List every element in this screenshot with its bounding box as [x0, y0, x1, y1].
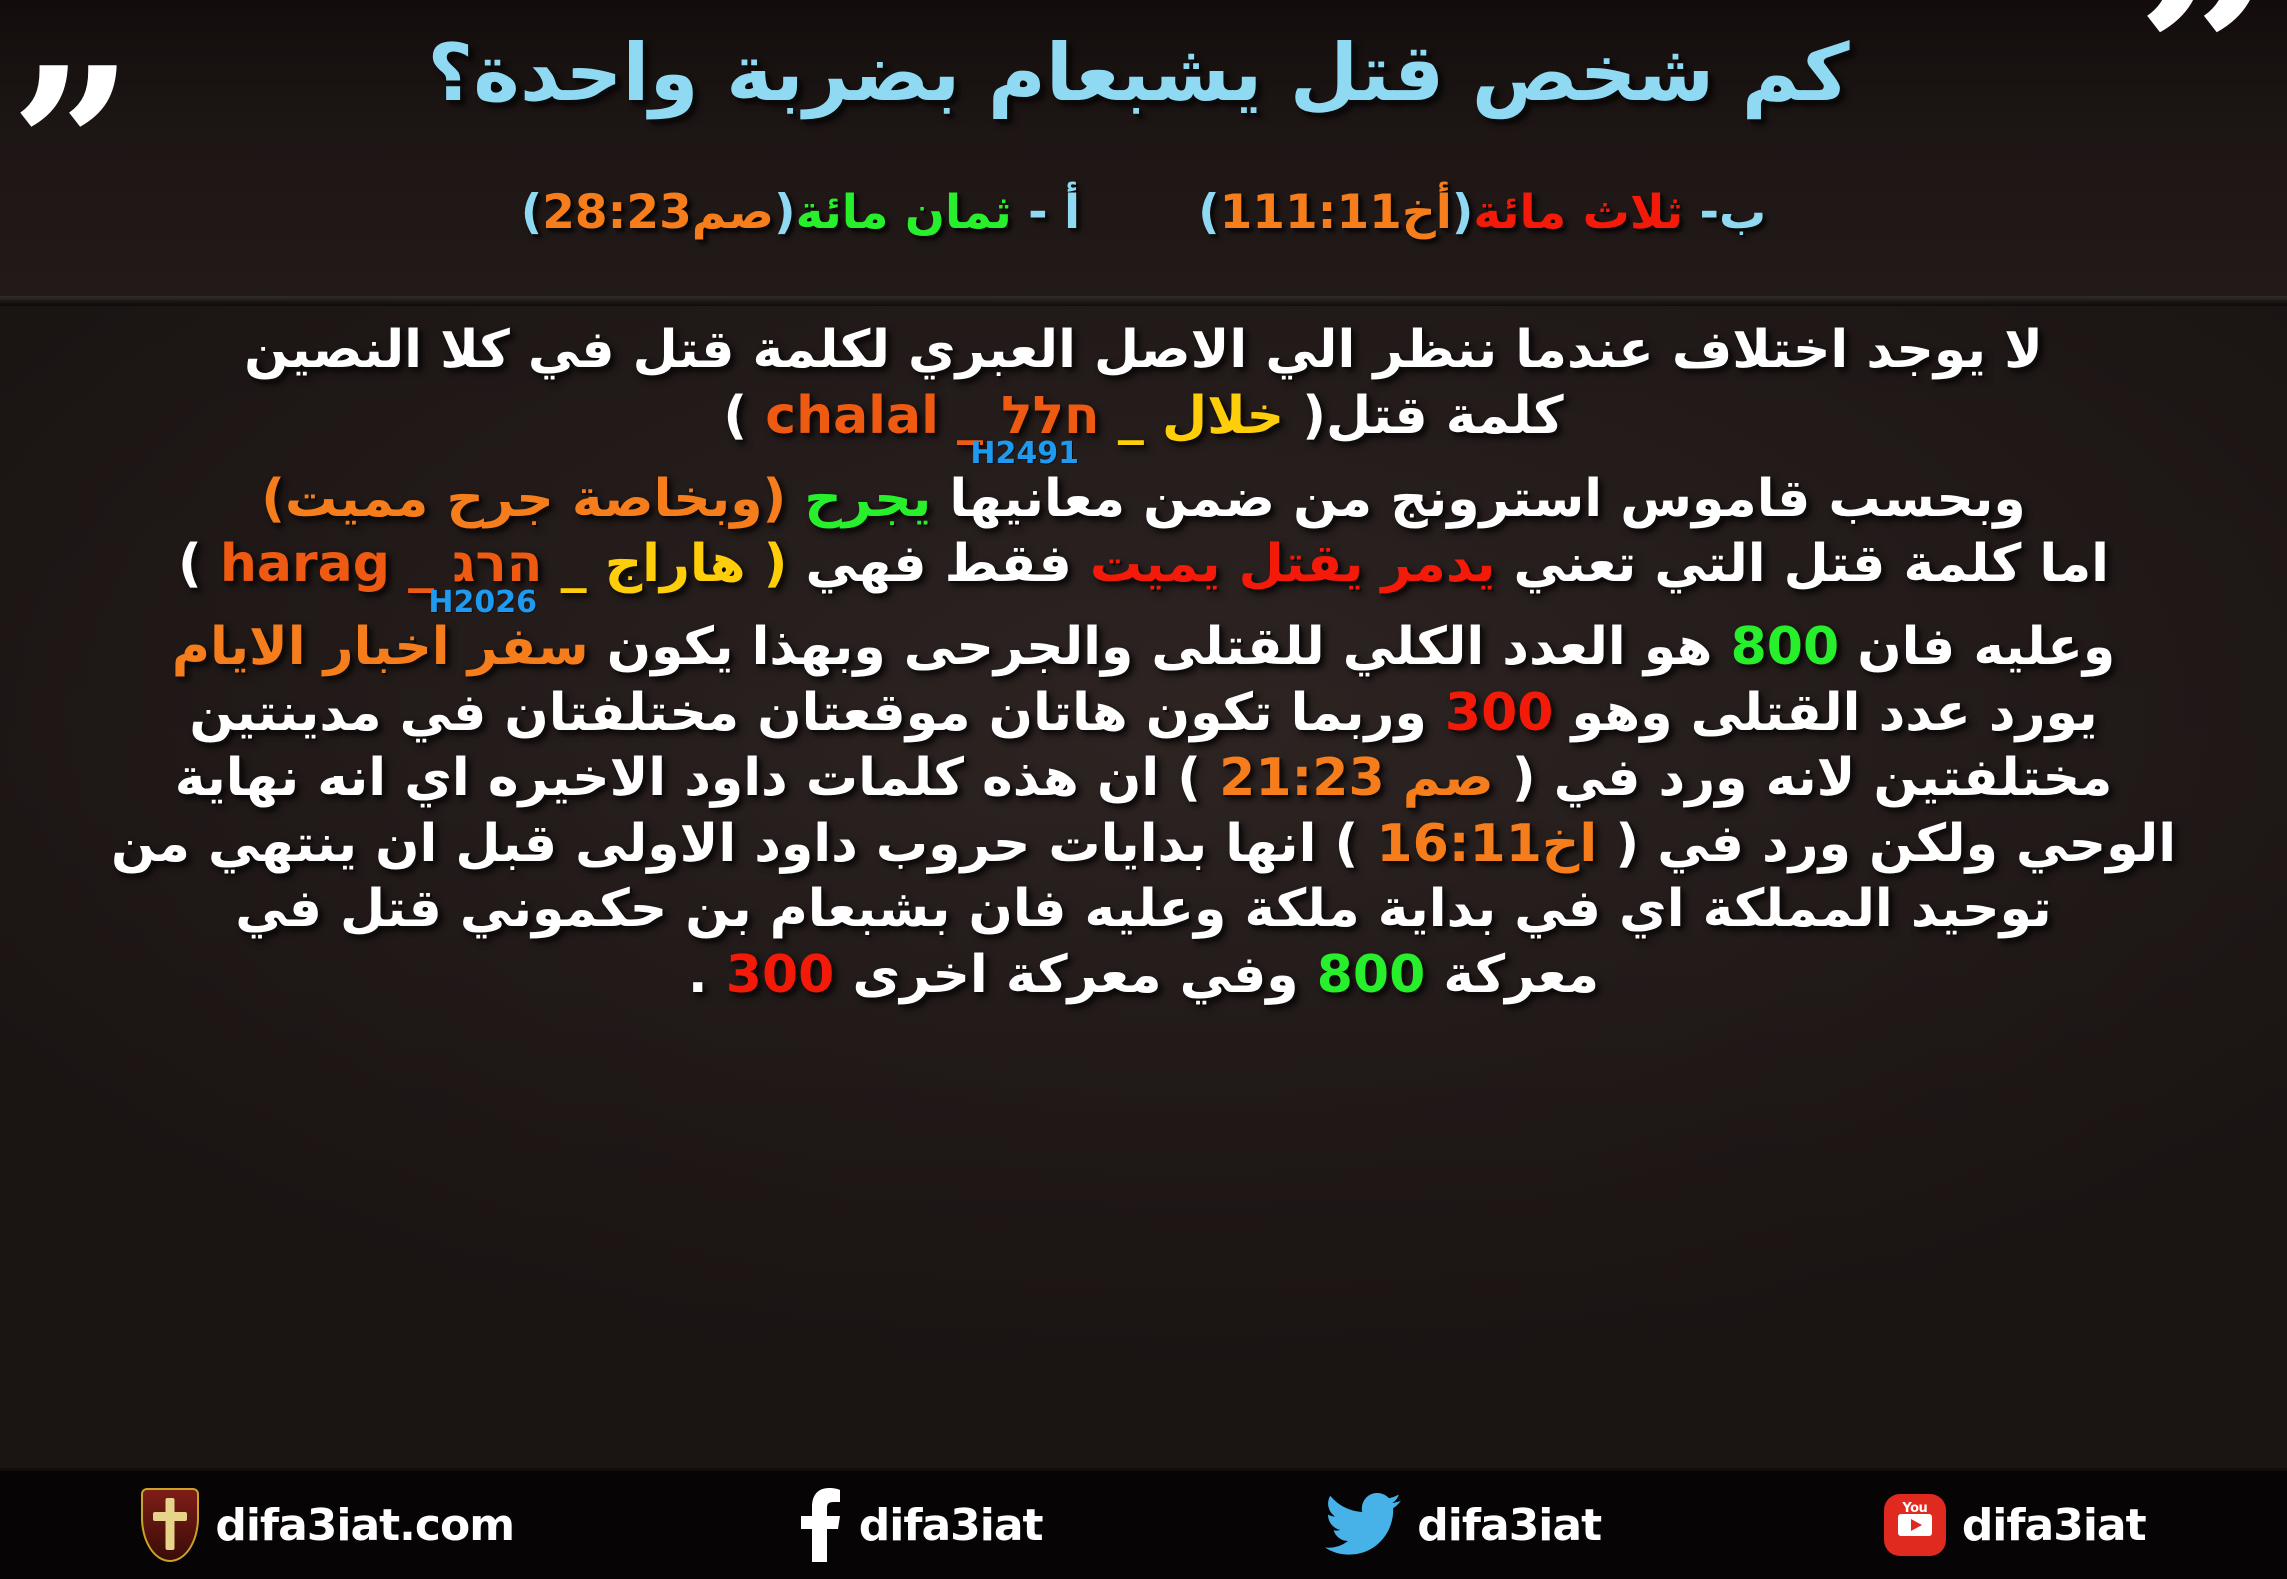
answer-options-row: ب- ثلاث مائة(1أخ11:11) أ - ثمان مائة(2صم…: [0, 185, 2287, 240]
line8-lead: الوحي ولكن ورد في (: [1615, 814, 2176, 874]
line7-tail: ) ان هذه كلمات داود الاخيره اي انه نهاية: [175, 748, 1201, 808]
header-banner: ” ” كم شخص قتل يشبعام بضربة واحدة؟ ب- ثل…: [0, 0, 2287, 300]
line8-tail: ) انها بدايات حروب داود الاولى قبل ان ين…: [111, 814, 1358, 874]
article-body: لا يوجد اختلاف عندما ننظر الي الاصل العب…: [20, 318, 2267, 1008]
harag-arabic-translit: هاراج: [605, 534, 746, 594]
youtube-icon: You: [1884, 1494, 1946, 1556]
line8-reference: 1اخ6:11: [1376, 812, 1597, 878]
shield-cross-icon: [141, 1488, 199, 1562]
line6-tail: وربما تكون هاتان موقعتان مختلفتان في مدي…: [189, 683, 1426, 743]
body-line-4: اما كلمة قتل التي تعني يدمر يقتل يميت فق…: [20, 532, 2267, 615]
line5-book: سفر اخبار الايام: [172, 617, 589, 677]
line6-count-300: 300: [1445, 681, 1554, 747]
footer-twitter-link[interactable]: difa3iat: [1325, 1493, 1601, 1557]
harag-latin: harag: [220, 532, 390, 598]
footer-twitter-label: difa3iat: [1417, 1500, 1601, 1551]
answer-option-a: أ - ثمان مائة(2صم8:23): [521, 185, 1080, 240]
answer-a-reference: 2صم8:23: [542, 185, 774, 240]
harag-sep-1: _: [561, 534, 587, 594]
answer-b-paren-open: (: [1452, 185, 1473, 240]
body-line-10: معركة 800 وفي معركة اخرى 300 .: [20, 943, 2267, 1009]
line3-note: (وبخاصة جرح مميت): [261, 469, 786, 529]
answer-b-text: ثلاث مائة: [1473, 185, 1683, 240]
footer-social-bar: difa3iat.com difa3iat difa3iat You: [0, 1468, 2287, 1579]
line10-count-300: 300: [726, 943, 835, 1009]
body-line-8: الوحي ولكن ورد في ( 1اخ6:11 ) انها بدايا…: [20, 812, 2267, 878]
footer-facebook-label: difa3iat: [859, 1500, 1043, 1551]
answer-a-paren-close: ): [521, 185, 542, 240]
line6-lead: يورد عدد القتلى وهو: [1572, 683, 2098, 743]
line4-mid: فقط فهي: [806, 534, 1072, 594]
twitter-icon: [1325, 1493, 1401, 1557]
body-line-5: وعليه فان 800 هو العدد الكلي للقتلى والج…: [20, 615, 2267, 681]
facebook-icon: [797, 1488, 843, 1562]
footer-youtube-link[interactable]: You difa3iat: [1884, 1494, 2146, 1556]
harag-term-group: هاراج _ הרג _ harag H2026: [220, 532, 746, 615]
question-title: كم شخص قتل يشبعام بضربة واحدة؟: [200, 28, 2077, 119]
answer-b-paren-close: ): [1198, 185, 1219, 240]
chalal-sep-1: _: [1118, 386, 1144, 446]
body-line-7: مختلفتين لانه ورد في ( 2صم 1:23 ) ان هذه…: [20, 746, 2267, 812]
footer-youtube-label: difa3iat: [1962, 1500, 2146, 1551]
line3-lead: وبحسب قاموس استرونج من ضمن معانيها: [949, 469, 2025, 529]
line5-lead: وعليه فان: [1857, 617, 2115, 677]
line4-open-paren: (: [764, 534, 788, 594]
chalal-latin: chalal: [765, 384, 939, 450]
body-line-2: كلمة قتل( خلال _ חלל _ chalal H2491 ): [20, 384, 2267, 467]
line10-lead: معركة: [1443, 945, 1599, 1005]
line4-meanings: يدمر يقتل يميت: [1090, 534, 1496, 594]
line10-period: .: [688, 945, 708, 1005]
answer-b-reference: 1أخ11:11: [1220, 185, 1452, 240]
body-line-3: وبحسب قاموس استرونج من ضمن معانيها يجرح …: [20, 467, 2267, 533]
line7-lead: مختلفتين لانه ورد في (: [1512, 748, 2112, 808]
quote-mark-top-right-icon: ”: [2135, 0, 2269, 133]
body-line-9: توحيد المملكة اي في بداية ملكة وعليه فان…: [20, 877, 2267, 943]
answer-option-b: ب- ثلاث مائة(1أخ11:11): [1198, 185, 1766, 240]
line7-reference: 2صم 1:23: [1219, 746, 1494, 812]
answer-a-text: ثمان مائة: [796, 185, 1012, 240]
line5-count-800: 800: [1731, 615, 1840, 681]
chalal-term-group: خلال _ חלל _ chalal H2491: [765, 384, 1284, 467]
answer-b-letter: ب-: [1683, 185, 1766, 240]
answer-a-paren-open: (: [774, 185, 795, 240]
youtube-icon-play: [1898, 1514, 1932, 1536]
footer-website-link[interactable]: difa3iat.com: [141, 1488, 514, 1562]
slide-canvas: ” ” كم شخص قتل يشبعام بضربة واحدة؟ ب- ثل…: [0, 0, 2287, 1579]
line2-close-paren: ): [723, 386, 747, 446]
line10-mid: وفي معركة اخرى: [852, 945, 1298, 1005]
line5-mid: هو العدد الكلي للقتلى والجرحى وبهذا يكون: [607, 617, 1713, 677]
line10-count-800: 800: [1317, 943, 1426, 1009]
answer-a-letter: أ -: [1012, 185, 1080, 240]
line4-lead: اما كلمة قتل التي تعني: [1514, 534, 2109, 594]
line4-close-paren: ): [178, 534, 202, 594]
line3-yajrah: يجرح: [804, 469, 931, 529]
header-divider: [0, 296, 2287, 306]
footer-facebook-link[interactable]: difa3iat: [797, 1488, 1043, 1562]
body-line-1: لا يوجد اختلاف عندما ننظر الي الاصل العب…: [20, 318, 2267, 384]
line2-lead: كلمة قتل(: [1302, 386, 1563, 446]
body-line-6: يورد عدد القتلى وهو 300 وربما تكون هاتان…: [20, 681, 2267, 747]
footer-website-label: difa3iat.com: [215, 1500, 514, 1551]
chalal-arabic-translit: خلال: [1162, 386, 1284, 446]
